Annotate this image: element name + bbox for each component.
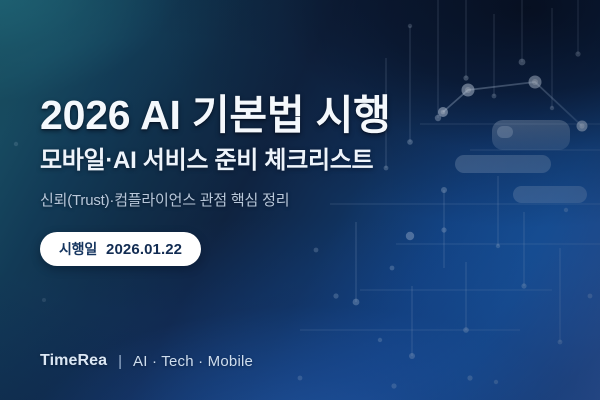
effective-date-badge: 시행일 2026.01.22 [40, 232, 201, 266]
banner-subtitle: 모바일·AI 서비스 준비 체크리스트 [40, 146, 373, 176]
banner-content: 2026 AI 기본법 시행 모바일·AI 서비스 준비 체크리스트 신뢰(Tr… [40, 0, 560, 400]
footer-divider: | [118, 353, 122, 370]
brand-name: TimeRea [40, 352, 107, 370]
banner-title: 2026 AI 기본법 시행 [40, 92, 391, 138]
footer-tags: AI · Tech · Mobile [133, 353, 253, 370]
banner-description: 신뢰(Trust)·컴플라이언스 관점 핵심 정리 [40, 190, 289, 212]
effective-date-label: 시행일 [59, 239, 97, 259]
promo-banner: 2026 AI 기본법 시행 모바일·AI 서비스 준비 체크리스트 신뢰(Tr… [0, 0, 600, 400]
effective-date-value: 2026.01.22 [106, 241, 182, 258]
banner-footer: TimeRea | AI · Tech · Mobile [40, 352, 253, 370]
